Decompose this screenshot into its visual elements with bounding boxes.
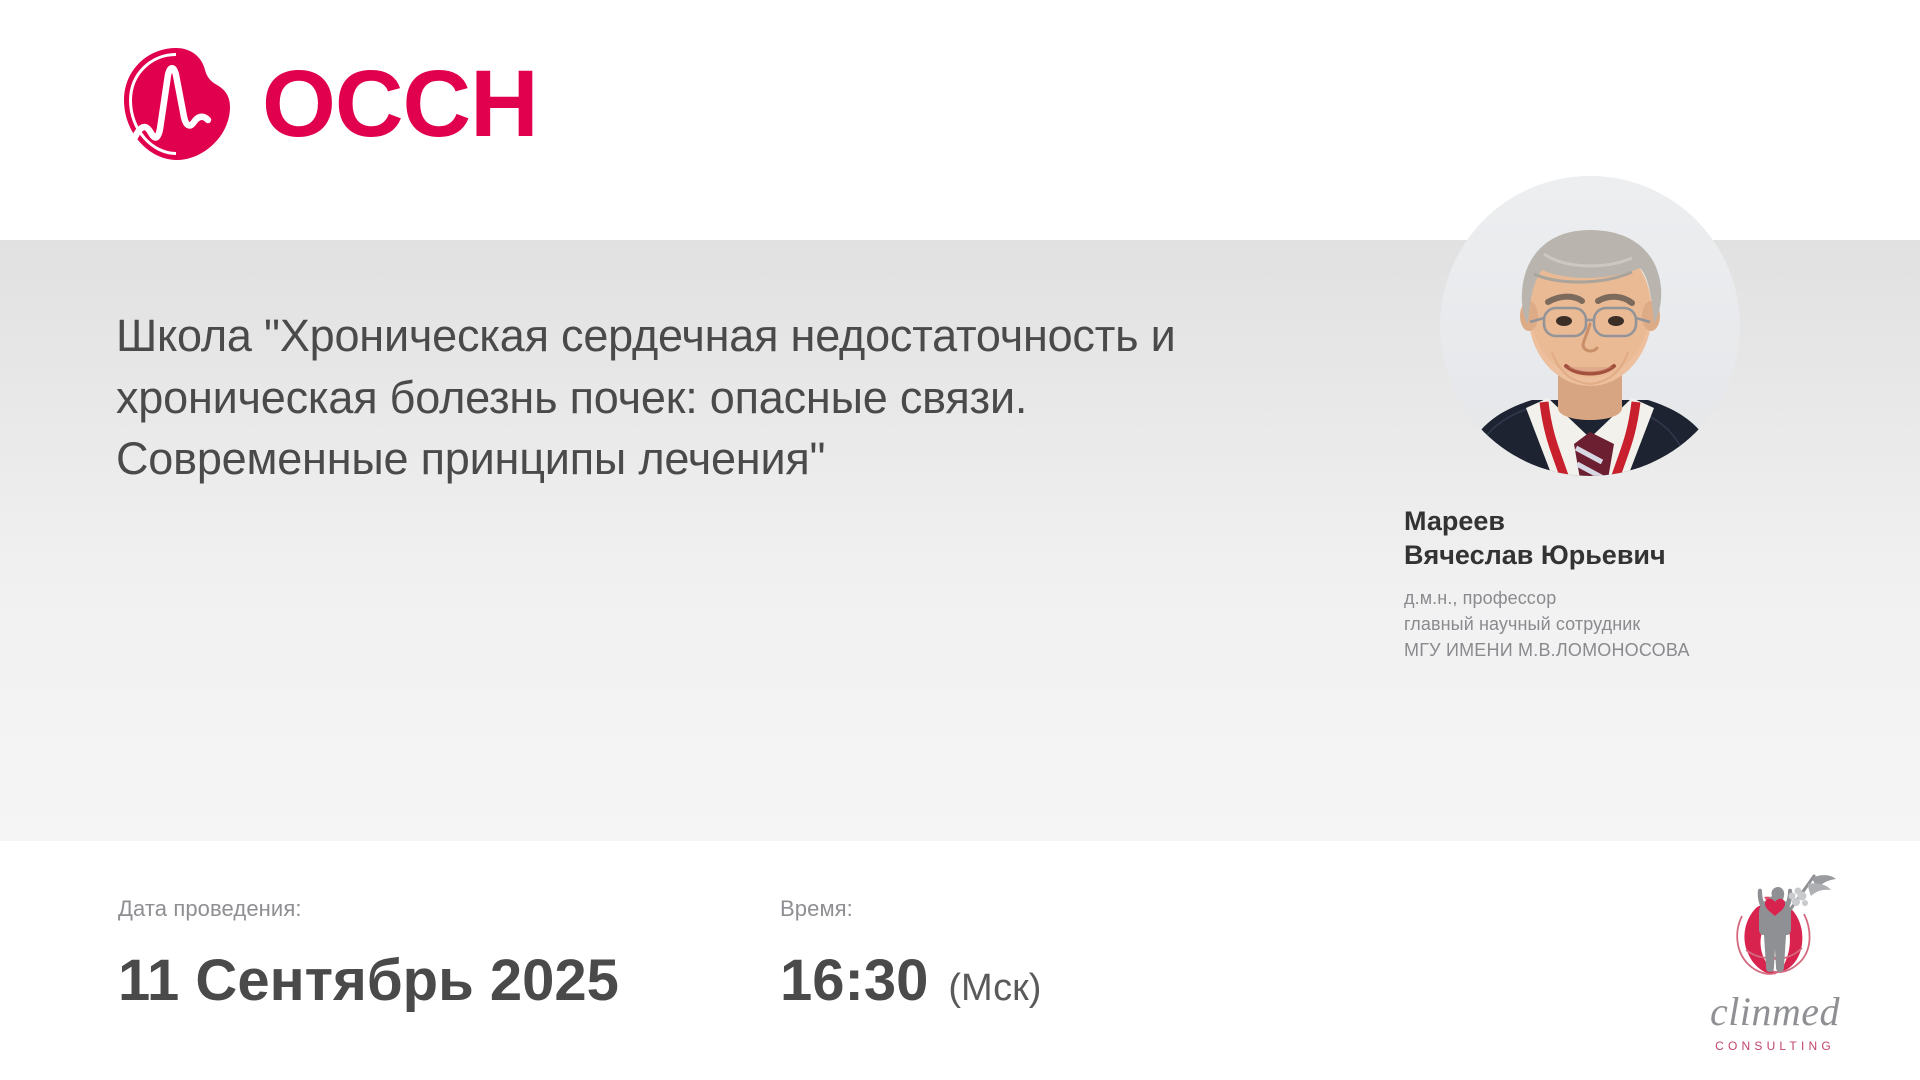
date-value: 11 Сентябрь 2025 [118, 952, 619, 1010]
partner-logo: clinmed CONSULTING [1690, 872, 1860, 1053]
avatar [1440, 176, 1740, 476]
speaker-credentials: д.м.н., профессор главный научный сотруд… [1404, 585, 1804, 663]
speaker-organization: МГУ ИМЕНИ М.В.ЛОМОНОСОВА [1404, 637, 1804, 663]
partner-name: clinmed [1690, 992, 1860, 1032]
heart-ecg-icon [118, 45, 236, 163]
date-block: Дата проведения: 11 Сентябрь 2025 [118, 896, 619, 1010]
time-value-row: 16:30(Мск) [780, 952, 1041, 1010]
speaker-position: главный научный сотрудник [1404, 611, 1804, 637]
speaker-first-patronymic: Вячеслав Юрьевич [1404, 538, 1804, 572]
time-block: Время: 16:30(Мск) [780, 896, 1041, 1010]
time-value: 16:30 [780, 948, 928, 1013]
speaker-degree: д.м.н., профессор [1404, 585, 1804, 611]
clinmed-caduceus-icon [1690, 872, 1860, 990]
time-label: Время: [780, 896, 1041, 922]
partner-tagline: CONSULTING [1690, 1039, 1860, 1053]
speaker-name: Мареев Вячеслав Юрьевич [1404, 504, 1804, 573]
speaker-portrait [1440, 176, 1740, 476]
speaker-last-name: Мареев [1404, 504, 1804, 538]
speaker-block: Мареев Вячеслав Юрьевич д.м.н., профессо… [1404, 176, 1804, 663]
brand-header: ОССН [118, 45, 538, 163]
timezone-label: (Мск) [948, 967, 1041, 1009]
brand-wordmark: ОССН [262, 57, 538, 152]
date-label: Дата проведения: [118, 896, 619, 922]
event-title: Школа "Хроническая сердечная недостаточн… [116, 305, 1326, 490]
